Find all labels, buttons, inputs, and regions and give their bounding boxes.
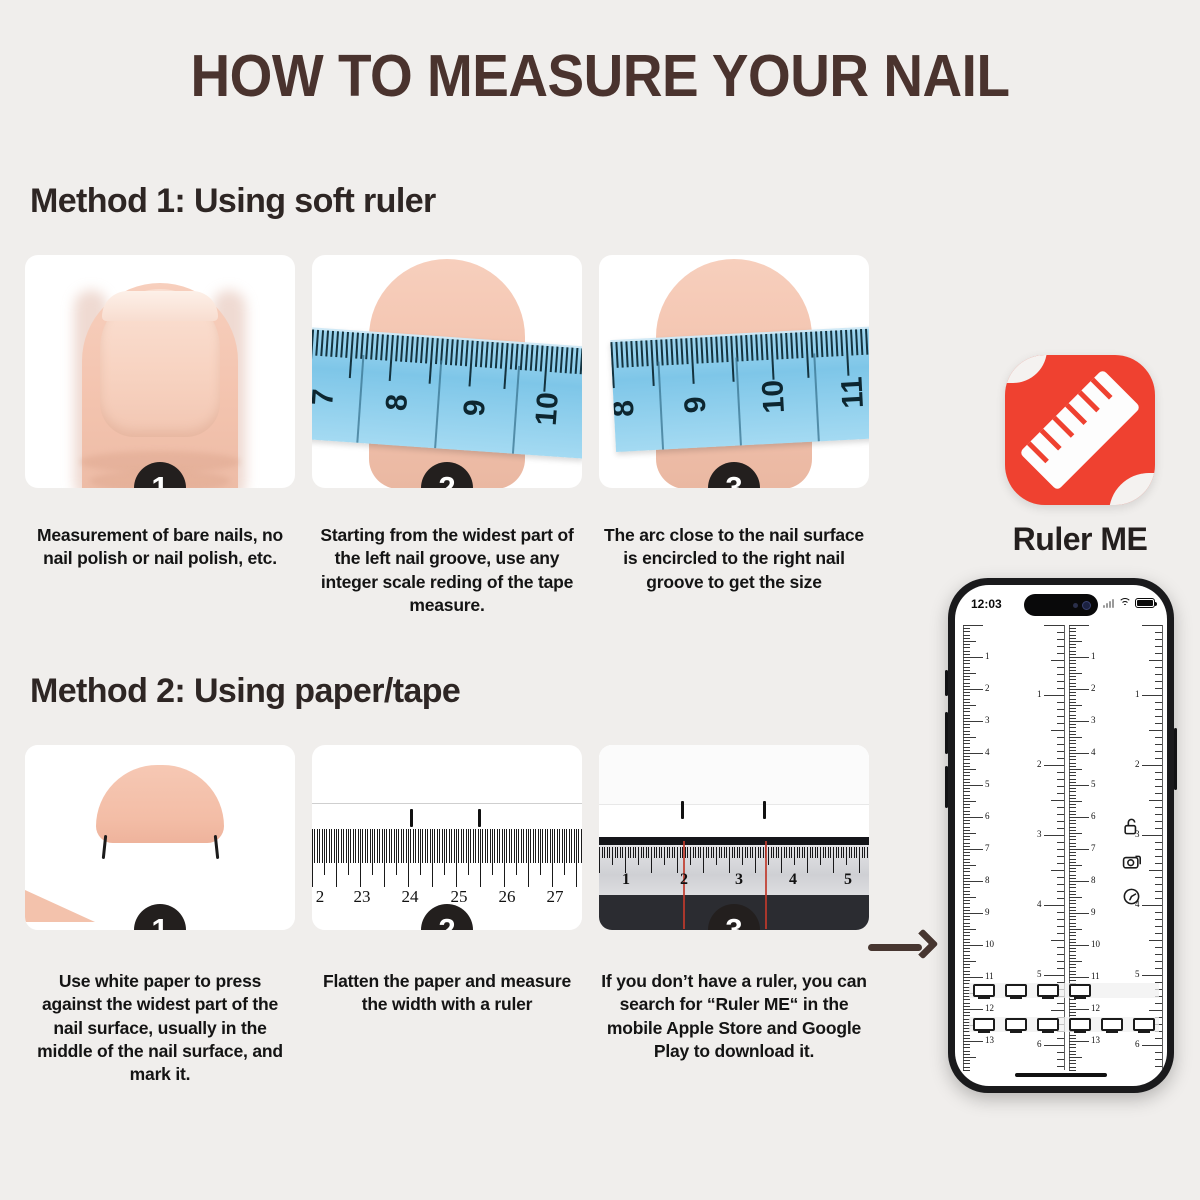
poster-root: HOW TO MEASURE YOUR NAIL Method 1: Using…: [0, 0, 1200, 1200]
step-card: 2 23 24 25 26 27 2 Flatten the paper and…: [312, 745, 582, 1086]
step-image-bare-nail: 1: [25, 255, 295, 488]
method-2-steps: 1 Use white paper to press against the w…: [25, 745, 870, 1086]
right-arrow-icon: [868, 927, 952, 967]
unlock-icon[interactable]: [1122, 817, 1141, 836]
step-caption: The arc close to the nail surface is enc…: [599, 524, 869, 594]
camera-icon[interactable]: [1122, 852, 1141, 871]
ruler-app-icon[interactable]: [1005, 355, 1155, 505]
status-bar-indicators: [1103, 598, 1155, 608]
home-indicator[interactable]: [1015, 1073, 1107, 1077]
phone-screen[interactable]: 12:03 12345678910111213 123456 123456789…: [955, 585, 1167, 1086]
finger-with-tape-illustration: 7 8 9 10: [312, 255, 582, 488]
finger-with-tape-wrapped-illustration: 8 9 10 11: [599, 255, 869, 488]
step-caption: Measurement of bare nails, no nail polis…: [25, 524, 295, 571]
battery-icon: [1135, 598, 1155, 608]
step-card: 1 2 3 4 5 3 If you don’t have a ruler, y…: [599, 745, 869, 1086]
method-1-steps: 1 Measurement of bare nails, no nail pol…: [25, 255, 870, 617]
step-image-tape-wrapped: 8 9 10 11 3: [599, 255, 869, 488]
phone-mockup: 12:03 12345678910111213 123456 123456789…: [948, 578, 1174, 1093]
white-paper-illustration: [25, 745, 295, 930]
app-promo: Ruler ME: [985, 355, 1175, 558]
dynamic-island: [1024, 594, 1098, 616]
screen-tool-icons[interactable]: [1122, 817, 1141, 906]
step-image-metal-ruler-phone: 1 2 3 4 5 3: [599, 745, 869, 930]
ruler-scale-left: 12345678910111213: [961, 625, 1013, 1070]
step-card: 7 8 9 10 2 Starting from the widest part…: [312, 255, 582, 617]
tape-measure-strip: 7 8 9 10: [312, 327, 582, 458]
step-caption: Flatten the paper and measure the width …: [312, 970, 582, 1017]
step-card: 1 Measurement of bare nails, no nail pol…: [25, 255, 295, 617]
step-image-paper-on-nail: 1: [25, 745, 295, 930]
method-2-heading: Method 2: Using paper/tape: [30, 672, 460, 711]
ruler-scale-center-right: 12345678910111213: [1067, 625, 1119, 1070]
app-name-label: Ruler ME: [985, 521, 1175, 558]
method-1-heading: Method 1: Using soft ruler: [30, 182, 436, 221]
fingernail-illustration: [25, 255, 295, 488]
status-bar-time: 12:03: [971, 597, 1002, 611]
step-image-tape-measure: 7 8 9 10 2: [312, 255, 582, 488]
step-caption: Starting from the widest part of the lef…: [312, 524, 582, 617]
metal-ruler-illustration: 1 2 3 4 5: [599, 745, 869, 930]
page-title: HOW TO MEASURE YOUR NAIL: [42, 42, 1158, 110]
settings-icon[interactable]: [1122, 887, 1141, 906]
step-caption: Use white paper to press against the wid…: [25, 970, 295, 1086]
tape-measure-strip: 8 9 10 11: [610, 326, 869, 452]
ruler-scale-center: 123456: [1017, 625, 1067, 1070]
cellular-signal-icon: [1103, 599, 1114, 608]
step-image-paper-on-ruler: 2 23 24 25 26 27 2: [312, 745, 582, 930]
wifi-icon: [1118, 598, 1131, 608]
step-card: 1 Use white paper to press against the w…: [25, 745, 295, 1086]
step-card: 8 9 10 11 3 The arc close to the nail su…: [599, 255, 869, 617]
step-caption: If you don’t have a ruler, you can searc…: [599, 970, 869, 1063]
